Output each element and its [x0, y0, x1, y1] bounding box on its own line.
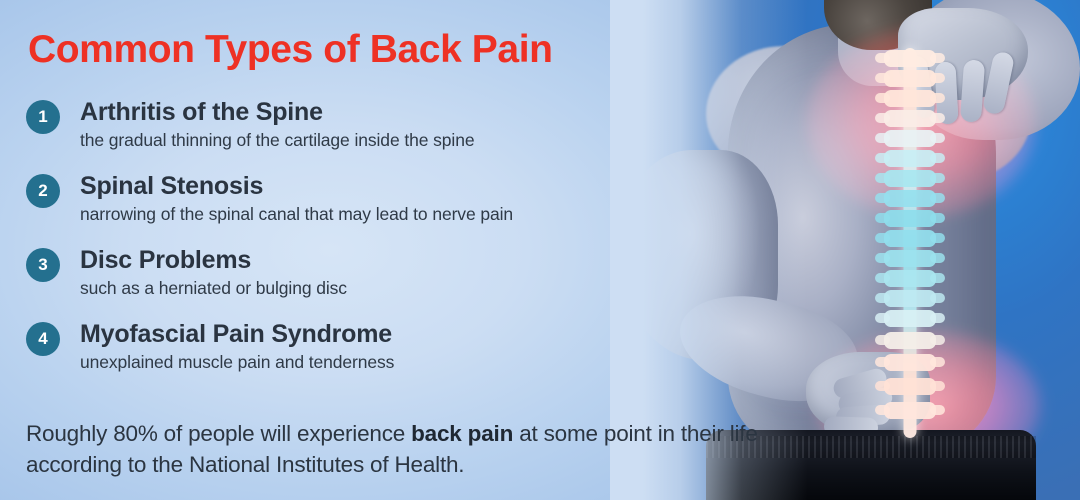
item-title: Spinal Stenosis	[80, 171, 664, 201]
xray-spine-overlay	[878, 48, 942, 438]
item-number-badge: 3	[26, 248, 60, 282]
item-subtitle: the gradual thinning of the cartilage in…	[80, 128, 664, 153]
list-item: 1 Arthritis of the Spine the gradual thi…	[24, 97, 664, 157]
list-item: 2 Spinal Stenosis narrowing of the spina…	[24, 171, 664, 231]
page-title: Common Types of Back Pain	[28, 28, 553, 72]
item-title: Disc Problems	[80, 245, 664, 275]
list-item: 4 Myofascial Pain Syndrome unexplained m…	[24, 319, 664, 379]
pain-types-list: 1 Arthritis of the Spine the gradual thi…	[24, 97, 664, 393]
item-title: Arthritis of the Spine	[80, 97, 664, 127]
item-number-badge: 2	[26, 174, 60, 208]
list-item: 3 Disc Problems such as a herniated or b…	[24, 245, 664, 305]
item-number-badge: 4	[26, 322, 60, 356]
item-subtitle: such as a herniated or bulging disc	[80, 276, 664, 301]
item-subtitle: narrowing of the spinal canal that may l…	[80, 202, 664, 227]
item-number-badge: 1	[26, 100, 60, 134]
footnote-emphasis: back pain	[411, 421, 513, 446]
statistic-footnote: Roughly 80% of people will experience ba…	[26, 418, 786, 480]
footnote-lead: Roughly 80% of people will experience	[26, 421, 411, 446]
content-panel: Common Types of Back Pain 1 Arthritis of…	[0, 0, 700, 500]
back-pain-infographic: Common Types of Back Pain 1 Arthritis of…	[0, 0, 1080, 500]
item-title: Myofascial Pain Syndrome	[80, 319, 664, 349]
item-subtitle: unexplained muscle pain and tenderness	[80, 350, 664, 375]
